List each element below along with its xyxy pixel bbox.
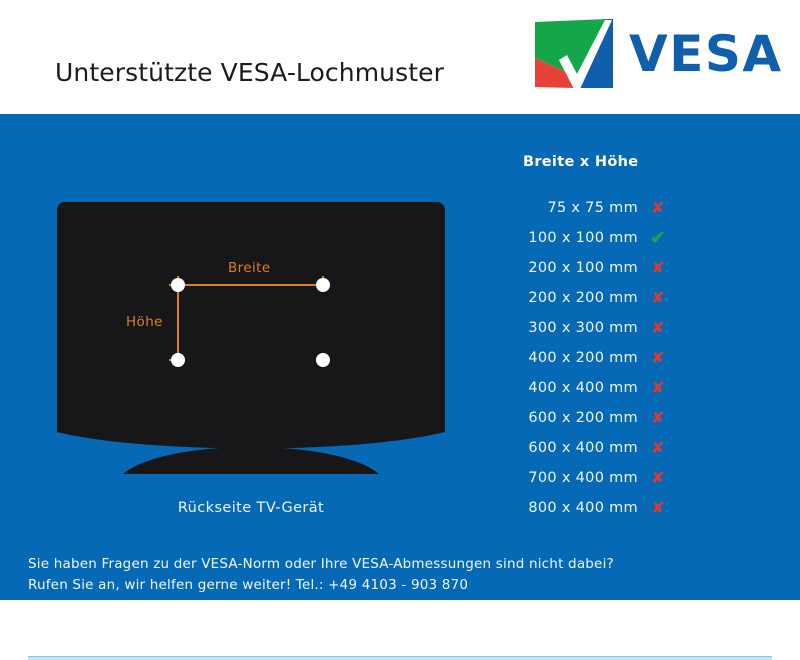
unsupported-cross-icon: ✘: [638, 290, 678, 306]
pattern-size-label: 800 x 400 mm: [500, 500, 638, 516]
table-header-width-x-height: Breite x Höhe: [523, 154, 700, 170]
table-body: 75 x 75 mm✘100 x 100 mm✔200 x 100 mm✘200…: [500, 193, 700, 523]
table-row: 400 x 400 mm✘: [500, 373, 700, 403]
unsupported-cross-icon: ✘: [638, 470, 678, 486]
mount-hole-top-right: [316, 278, 330, 292]
pattern-size-label: 700 x 400 mm: [500, 470, 638, 486]
footer-line-1: Sie haben Fragen zu der VESA-Norm oder I…: [28, 554, 778, 575]
table-row: 200 x 200 mm✘: [500, 283, 700, 313]
table-row: 300 x 300 mm✘: [500, 313, 700, 343]
table-row: 600 x 200 mm✘: [500, 403, 700, 433]
pattern-size-label: 600 x 200 mm: [500, 410, 638, 426]
mount-hole-bottom-right: [316, 353, 330, 367]
table-row: 800 x 400 mm✘: [500, 493, 700, 523]
table-row: 700 x 400 mm✘: [500, 463, 700, 493]
table-row: 600 x 400 mm✘: [500, 433, 700, 463]
pattern-size-label: 200 x 200 mm: [500, 290, 638, 306]
pattern-size-label: 400 x 200 mm: [500, 350, 638, 366]
pattern-size-label: 200 x 100 mm: [500, 260, 638, 276]
unsupported-cross-icon: ✘: [638, 500, 678, 516]
table-row: 200 x 100 mm✘: [500, 253, 700, 283]
table-row: 75 x 75 mm✘: [500, 193, 700, 223]
pattern-size-label: 75 x 75 mm: [500, 200, 638, 216]
footer-line-2: Rufen Sie an, wir helfen gerne weiter! T…: [28, 575, 778, 596]
tv-figure-caption: Rückseite TV-Gerät: [55, 500, 447, 516]
supported-check-icon: ✔: [638, 230, 678, 246]
pattern-size-label: 100 x 100 mm: [500, 230, 638, 246]
unsupported-cross-icon: ✘: [638, 410, 678, 426]
vesa-pattern-table: Breite x Höhe 75 x 75 mm✘100 x 100 mm✔20…: [500, 154, 700, 523]
tv-back-illustration: Breite Höhe: [55, 202, 447, 492]
pattern-size-label: 300 x 300 mm: [500, 320, 638, 336]
page-title: Unterstützte VESA-Lochmuster: [55, 58, 444, 87]
table-row: 400 x 200 mm✘: [500, 343, 700, 373]
pattern-size-label: 600 x 400 mm: [500, 440, 638, 456]
unsupported-cross-icon: ✘: [638, 440, 678, 456]
tv-body: [57, 202, 445, 449]
footer-divider: [28, 656, 772, 660]
height-label: Höhe: [126, 314, 163, 330]
mount-hole-top-left: [171, 278, 185, 292]
width-label: Breite: [228, 260, 271, 276]
unsupported-cross-icon: ✘: [638, 350, 678, 366]
content-panel: Breite Höhe Rückseite TV-Gerät Breite x …: [0, 114, 800, 600]
tv-base: [123, 447, 379, 474]
footer-contact-text: Sie haben Fragen zu der VESA-Norm oder I…: [28, 554, 778, 596]
unsupported-cross-icon: ✘: [638, 380, 678, 396]
vesa-info-page: Unterstützte VESA-Lochmuster VESA: [0, 0, 800, 600]
mount-hole-bottom-left: [171, 353, 185, 367]
unsupported-cross-icon: ✘: [638, 260, 678, 276]
vesa-logo: VESA: [533, 18, 780, 90]
page-header: Unterstützte VESA-Lochmuster VESA: [0, 0, 800, 114]
unsupported-cross-icon: ✘: [638, 200, 678, 216]
vesa-wordmark: VESA: [629, 26, 783, 82]
pattern-size-label: 400 x 400 mm: [500, 380, 638, 396]
vesa-logo-checkmark-icon: [533, 18, 615, 90]
table-row: 100 x 100 mm✔: [500, 223, 700, 253]
unsupported-cross-icon: ✘: [638, 320, 678, 336]
